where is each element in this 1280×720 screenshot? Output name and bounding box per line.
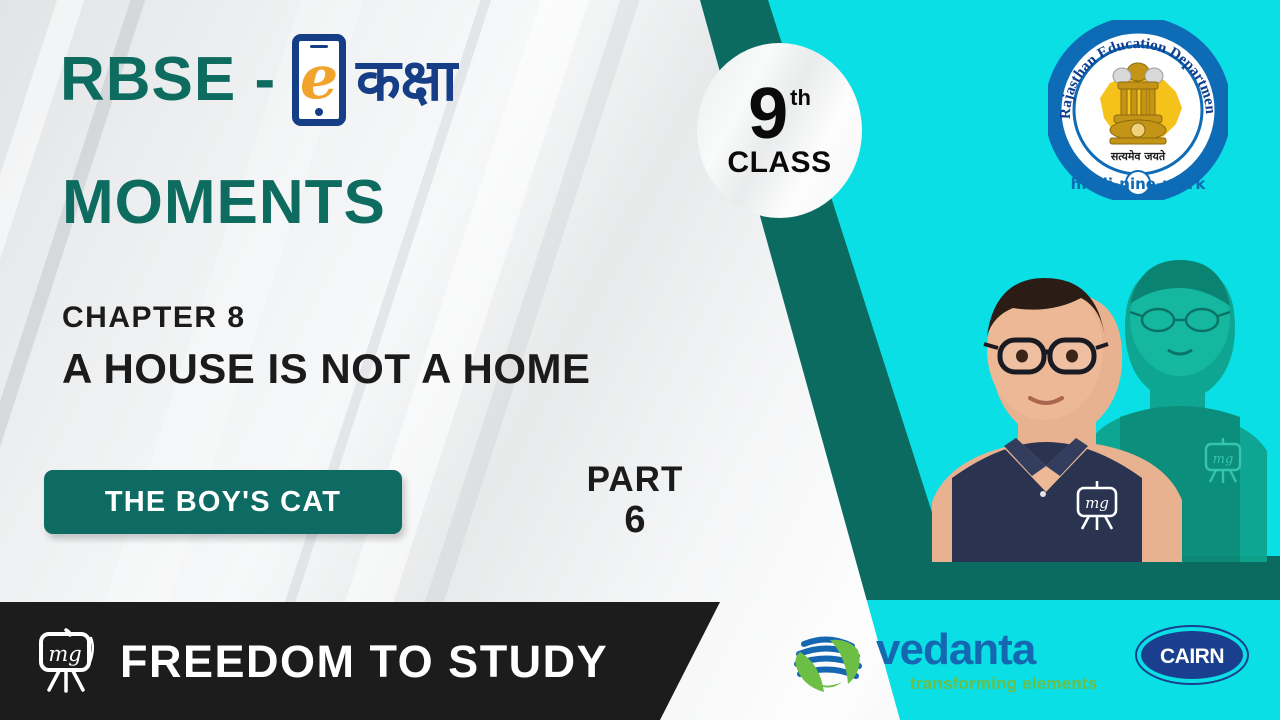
chapter-label: CHAPTER 8 — [62, 303, 246, 333]
part-number: 6 — [540, 499, 730, 543]
back-presenter-mg-text: mg — [1213, 452, 1234, 467]
cairn-name: CAIRN — [1160, 645, 1224, 668]
presenter-photos: mg — [930, 232, 1280, 562]
vedanta-wordmark: vedanta transforming elements — [876, 628, 1097, 692]
sponsor-vedanta: vedanta transforming elements — [790, 622, 1097, 698]
footer-tagline: FREEDOM TO STUDY — [120, 639, 608, 684]
seal-mark: hindi-nine-mark — [1071, 175, 1207, 193]
board-name: RBSE - — [60, 49, 276, 111]
front-presenter-button — [1040, 491, 1046, 497]
footer-mg-text: mg — [48, 642, 81, 666]
teal-footer-band — [905, 556, 1280, 600]
footer-content: mg FREEDOM TO STUDY — [0, 602, 608, 720]
vedanta-name: vedanta — [876, 628, 1097, 672]
platform-name-devanagari: कक्षा — [356, 51, 457, 109]
vedanta-globe-icon — [790, 622, 866, 698]
part-indicator: PART 6 — [540, 462, 730, 542]
class-badge: 9 th CLASS — [697, 43, 862, 218]
cairn-oval-icon: CAIRN — [1134, 624, 1250, 686]
brand-lockup: RBSE - e कक्षा — [60, 34, 457, 126]
seal-svg: सत्यमेव जयते hindi-nine-mark Rajasthan E… — [1048, 20, 1228, 200]
rajasthan-education-department-seal: सत्यमेव जयते hindi-nine-mark Rajasthan E… — [1048, 20, 1228, 200]
subject-title: MOMENTS — [62, 172, 386, 234]
platform-e-letter: e — [300, 48, 338, 108]
class-number-row: 9 th — [748, 81, 811, 147]
class-number: 9 — [748, 81, 788, 147]
phone-speaker — [310, 45, 328, 48]
class-ordinal-suffix: th — [790, 87, 811, 109]
phone-home-button — [315, 108, 323, 116]
front-presenter-eye-left — [1016, 350, 1028, 363]
seal-motto: सत्यमेव जयते — [1110, 149, 1166, 163]
chapter-title: A HOUSE IS NOT A HOME — [62, 348, 591, 390]
thumbnail-canvas: RBSE - e कक्षा MOMENTS CHAPTER 8 A HOUSE… — [0, 0, 1280, 720]
front-presenter-eye-right — [1066, 350, 1078, 363]
part-word: PART — [540, 462, 730, 499]
sponsor-row: vedanta transforming elements CAIRN — [770, 602, 1280, 720]
topic-badge-label: THE BOY'S CAT — [105, 488, 341, 517]
class-word: CLASS — [727, 146, 831, 180]
front-presenter-mg-text: mg — [1085, 494, 1109, 512]
smartphone-icon: e — [292, 34, 346, 126]
vedanta-tagline: transforming elements — [910, 675, 1097, 692]
presenters-svg: mg — [930, 232, 1280, 562]
topic-badge: THE BOY'S CAT — [44, 470, 402, 534]
blackboard-easel-icon: mg — [36, 628, 98, 694]
